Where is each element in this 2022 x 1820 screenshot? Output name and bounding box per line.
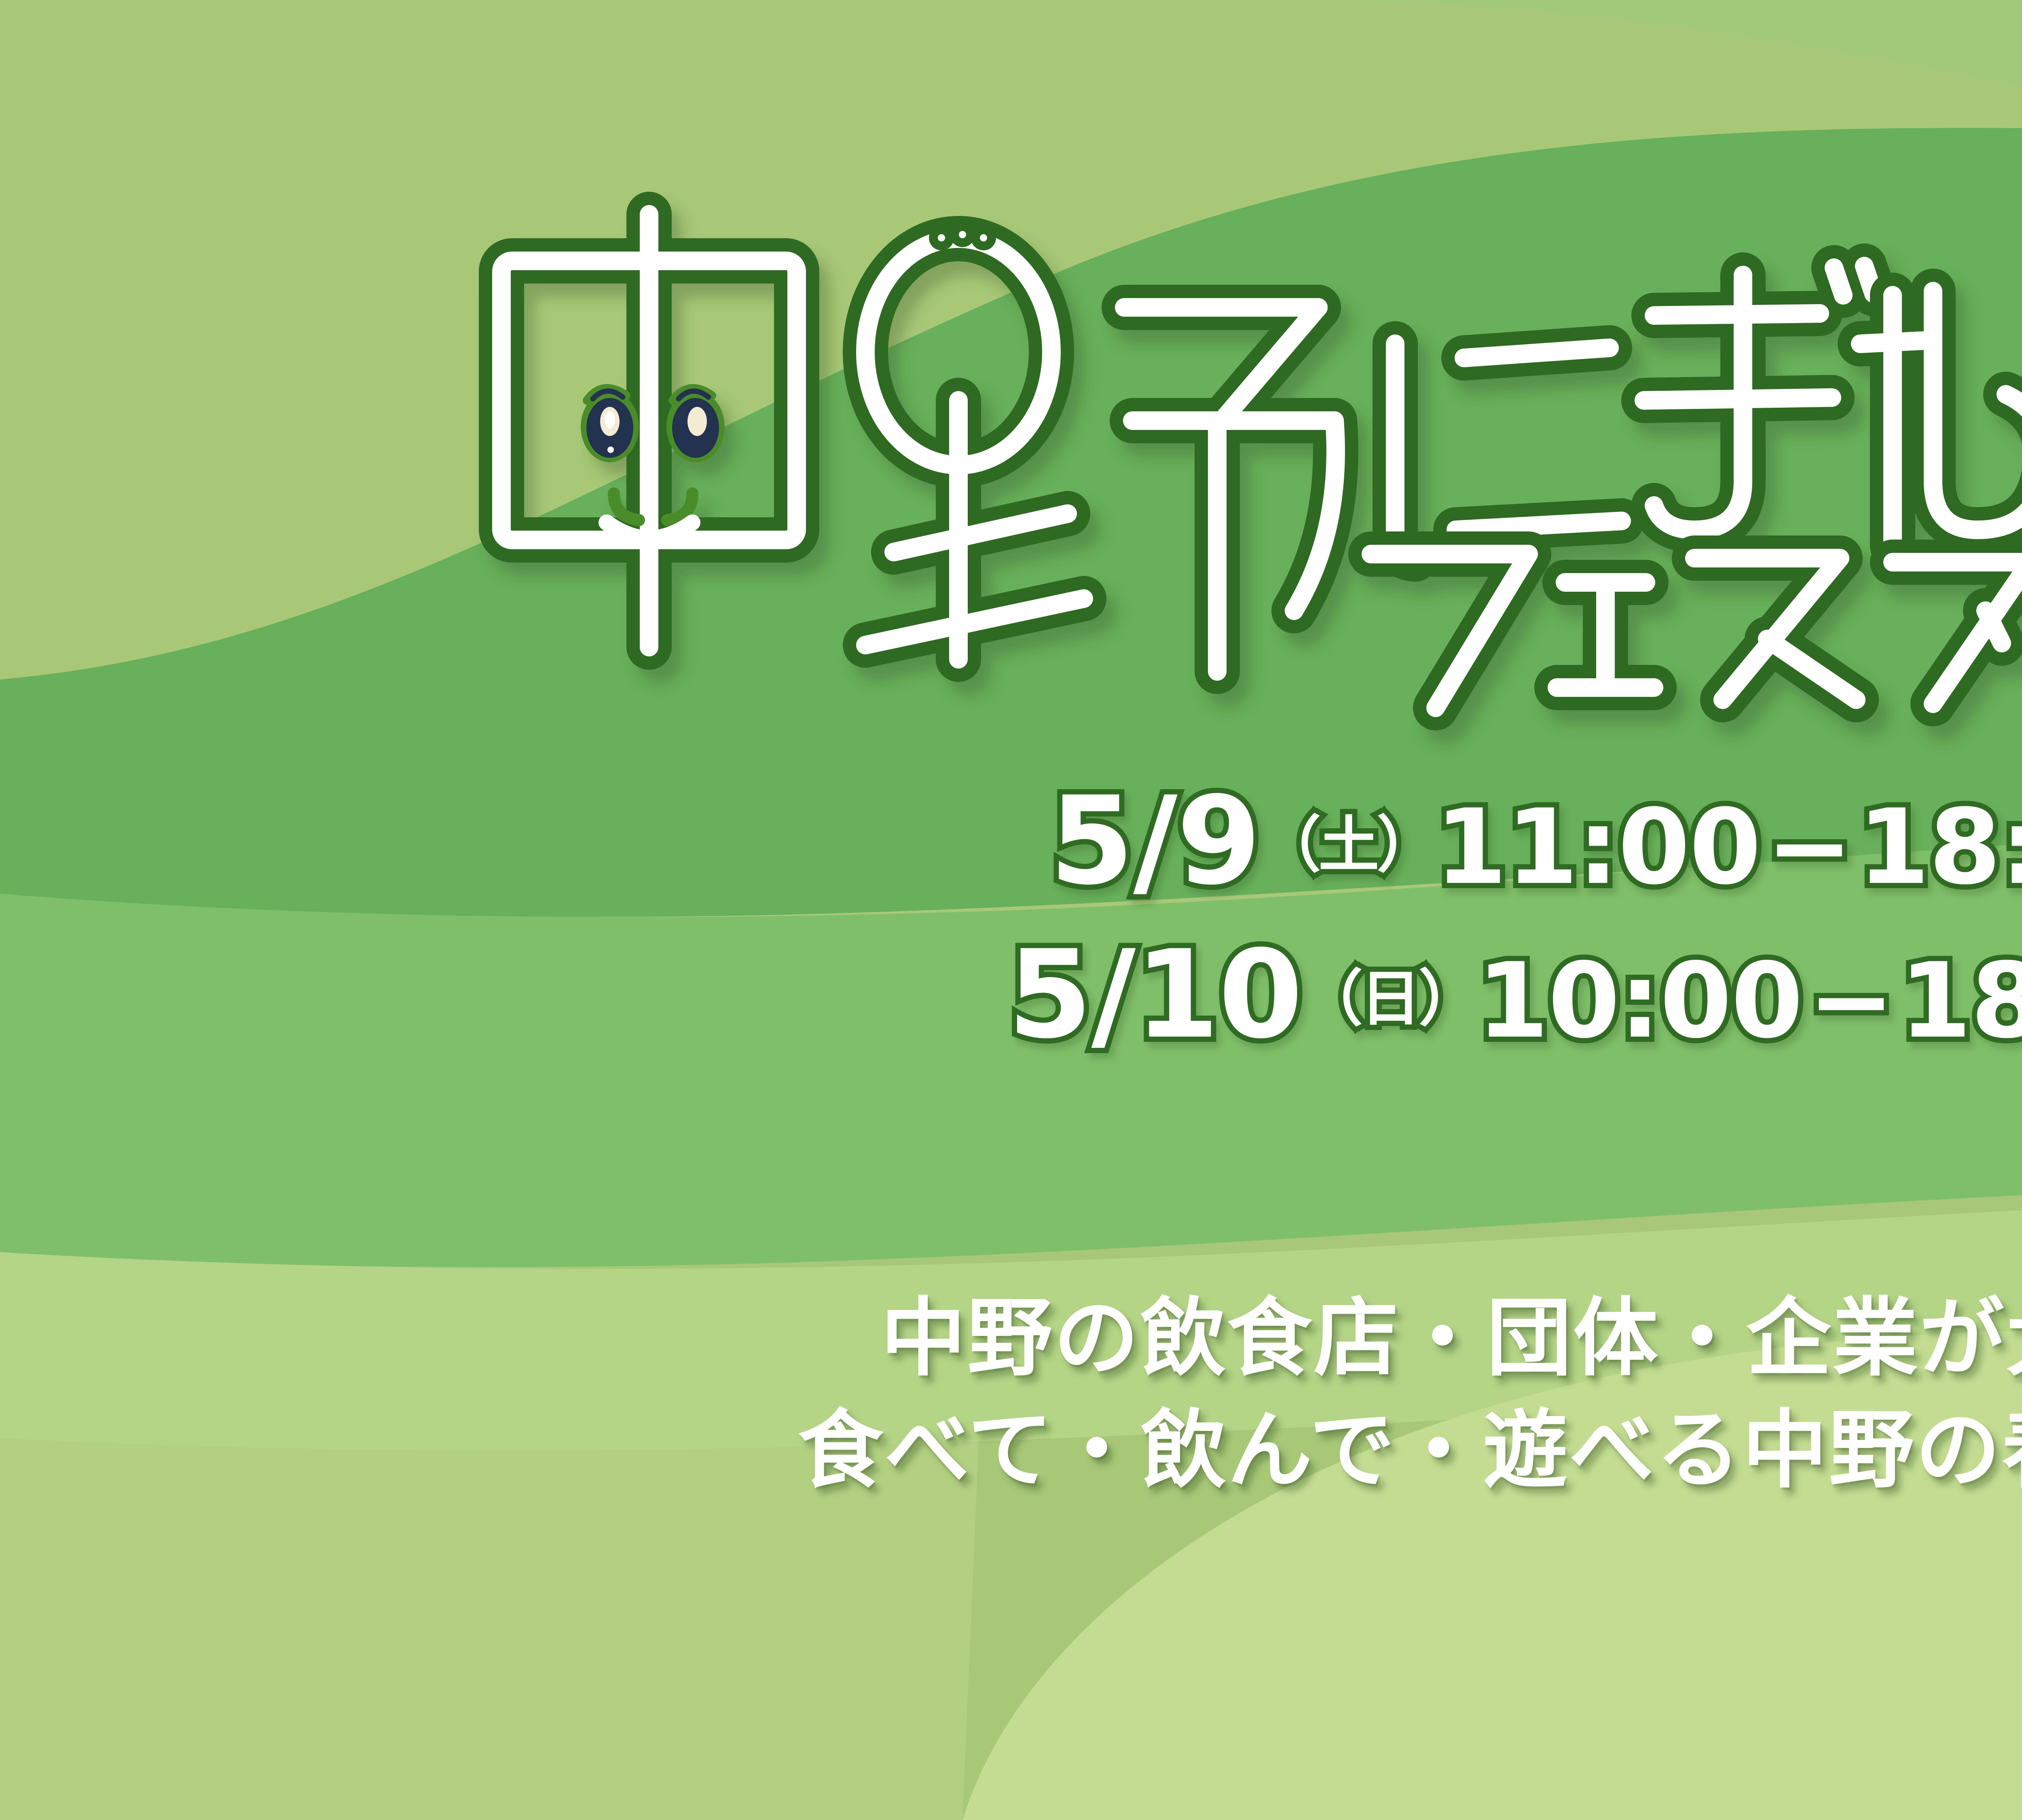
date-1-weekday: （土）: [1260, 810, 1435, 880]
date-2-dash: −: [1802, 941, 1900, 1061]
logo-kana-festa: [1371, 554, 2022, 708]
event-poster: .ln{fill:none;stroke:#FFFFFF;stroke-widt…: [0, 0, 2022, 1820]
date-line-2: 5/10（日）10:00−18:00: [0, 934, 2022, 1056]
date-1-end: 18:00: [1858, 787, 2022, 908]
date-2-start: 10:00: [1477, 941, 1802, 1061]
date-1-start: 11:00: [1435, 787, 1760, 908]
date-line-1: 5/9（土）11:00−18:00: [0, 781, 2022, 902]
date-1-dash: −: [1760, 787, 1858, 908]
event-dates: 5/9（土）11:00−18:00 5/10（日）10:00−18:00: [0, 781, 2022, 1056]
date-1-date: 5/9: [1049, 770, 1260, 912]
date-2-weekday: （日）: [1302, 964, 1477, 1034]
logo-kana-nigiwai: [1395, 266, 2022, 559]
logo-artwork: .ln{fill:none;stroke:#FFFFFF;stroke-widt…: [437, 174, 2022, 732]
date-2-date: 5/10: [1008, 924, 1302, 1065]
event-tagline: 中野の飲食店・団体・企業が大集合！ 食べて・飲んで・遊べる中野の春のお祭り: [0, 1282, 2022, 1506]
tagline-line-2: 食べて・飲んで・遊べる中野の春のお祭り: [0, 1394, 2022, 1506]
logo-char-no: [865, 226, 1336, 671]
event-logo: .ln{fill:none;stroke:#FFFFFF;stroke-widt…: [437, 174, 2022, 732]
date-2-end: 18:00: [1899, 941, 2022, 1061]
tagline-line-1: 中野の飲食店・団体・企業が大集合！: [0, 1282, 2022, 1394]
sprout-dots-icon: [933, 226, 992, 246]
logo-char-naka: [501, 214, 797, 647]
